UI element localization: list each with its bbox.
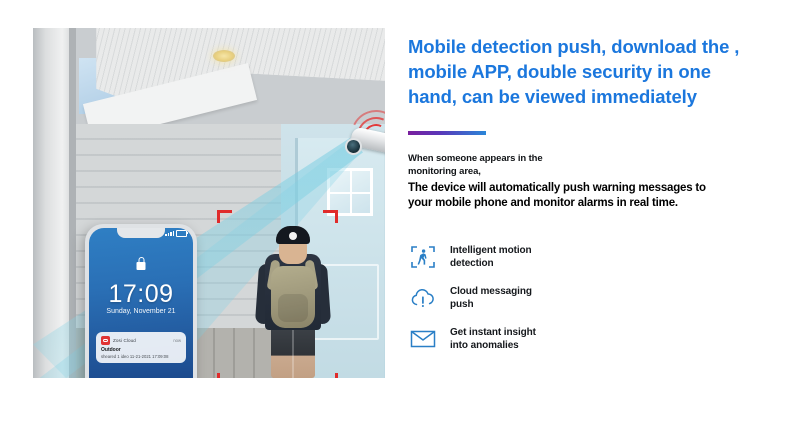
notification-app-name: Zosi Cloud bbox=[113, 338, 170, 343]
feature-item-cloud-messaging: Cloud messaging push bbox=[408, 284, 780, 312]
feature-label: Cloud messaging push bbox=[450, 285, 532, 311]
lockscreen-time: 17:09 bbox=[89, 280, 193, 309]
push-notification[interactable]: Zosi Cloud now Outdoor sheared 1 ideo 11… bbox=[96, 332, 186, 363]
feature-label: Get instant insight into anomalies bbox=[450, 326, 536, 352]
envelope-icon bbox=[408, 325, 438, 353]
page-title: Mobile detection push, download the , mo… bbox=[408, 34, 780, 109]
battery-icon bbox=[176, 230, 187, 237]
motion-detection-icon bbox=[408, 243, 438, 271]
intro-text: When someone appears in the monitoring a… bbox=[408, 153, 780, 178]
phone-lockscreen: 17:09 Sunday, November 21 Zosi Cloud now… bbox=[89, 228, 193, 378]
emphasis-text: The device will automatically push warni… bbox=[408, 181, 780, 211]
marketing-copy: Mobile detection push, download the , mo… bbox=[408, 34, 780, 366]
feature-item-motion-detection: Intelligent motion detection bbox=[408, 243, 780, 271]
lockscreen-date: Sunday, November 21 bbox=[89, 308, 193, 315]
feature-label: Intelligent motion detection bbox=[450, 244, 532, 270]
tracking-bracket-icon bbox=[323, 373, 338, 378]
person-with-backpack bbox=[245, 220, 341, 378]
tracking-bracket-icon bbox=[323, 210, 338, 223]
ceiling-light-icon bbox=[213, 50, 235, 62]
notification-time: now bbox=[173, 338, 181, 343]
tracking-bracket-icon bbox=[217, 373, 232, 378]
phone-statusbar bbox=[165, 230, 187, 237]
product-photo: 17:09 Sunday, November 21 Zosi Cloud now… bbox=[33, 28, 385, 378]
cloud-alert-icon bbox=[408, 284, 438, 312]
notification-body: sheared 1 ideo 11-21-2021 17:09:08 bbox=[101, 354, 181, 359]
lock-icon bbox=[137, 262, 146, 270]
phone-mockup: 17:09 Sunday, November 21 Zosi Cloud now… bbox=[85, 224, 197, 378]
notification-title: Outdoor bbox=[101, 347, 181, 353]
feature-list: Intelligent motion detection Cloud messa… bbox=[408, 243, 780, 353]
signal-bars-icon bbox=[165, 231, 174, 236]
feature-item-instant-insight: Get instant insight into anomalies bbox=[408, 325, 780, 353]
app-icon bbox=[101, 336, 110, 345]
phone-notch bbox=[117, 228, 165, 238]
tracking-bracket-icon bbox=[217, 210, 232, 223]
gradient-divider bbox=[408, 131, 486, 135]
